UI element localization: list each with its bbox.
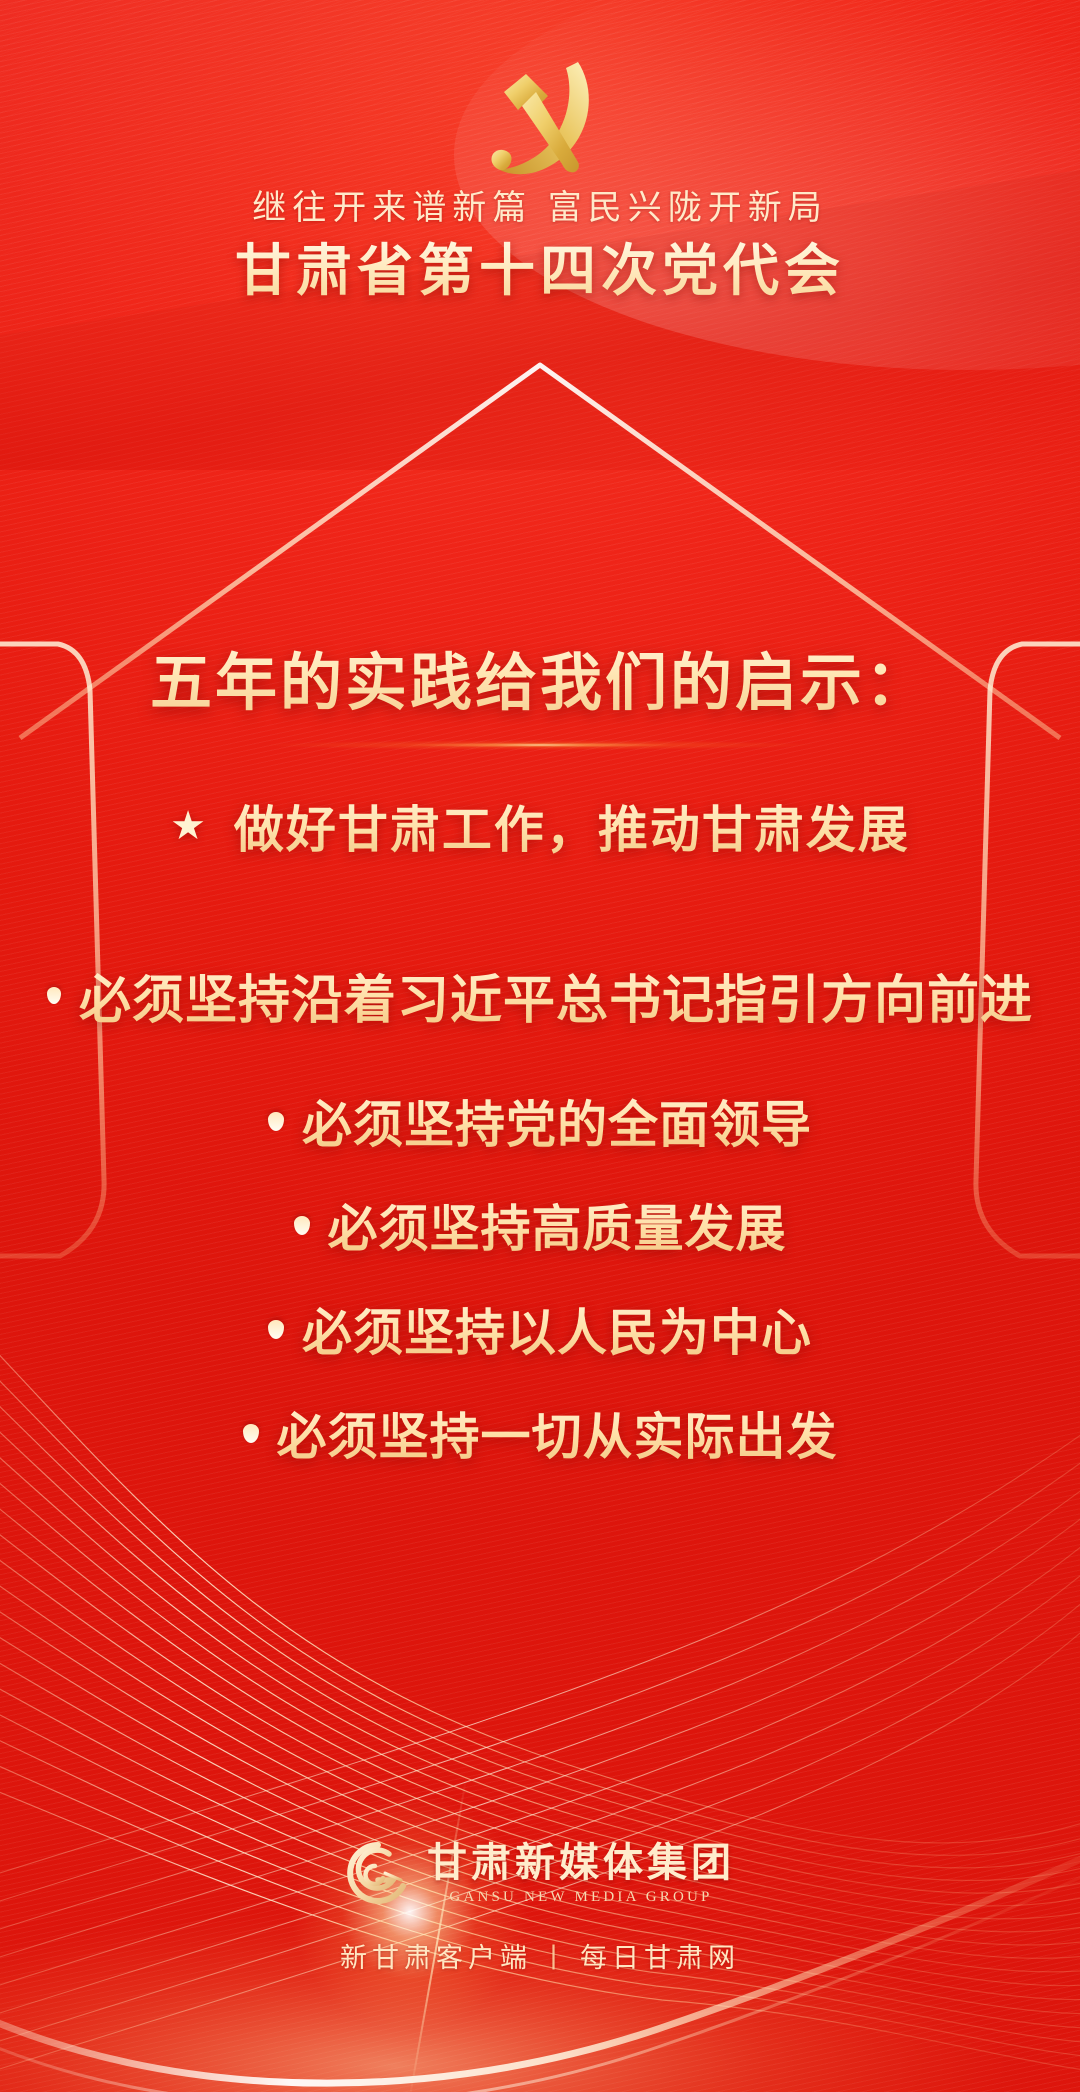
teardrop-bullet-icon	[294, 1216, 310, 1235]
header-title: 甘肃省第十四次党代会	[0, 239, 1080, 303]
poster-root: 继往开来谱新篇 富民兴陇开新局 甘肃省第十四次党代会 五年的实践给我们的启示： …	[0, 0, 1080, 2092]
list-item: 必须坚持党的全面领导	[0, 1085, 1080, 1157]
gansu-new-media-logo-icon	[345, 1840, 411, 1906]
outlet-site-label: 每日甘肃网	[580, 1936, 740, 1975]
teardrop-bullet-icon	[47, 987, 61, 1004]
star-highlight-row: ★ 做好甘肃工作，推动甘肃发展	[0, 790, 1080, 862]
star-item-text: 做好甘肃工作，推动甘肃发展	[234, 790, 910, 862]
teardrop-bullet-icon	[243, 1424, 259, 1443]
outlet-separator: |	[550, 1940, 562, 1971]
list-item-label: 必须坚持沿着习近平总书记指引方向前进	[79, 958, 1033, 1033]
brand-row: 甘肃新媒体集团 GANSU NEW MEDIA GROUP	[0, 1840, 1080, 1906]
list-item-label: 必须坚持高质量发展	[328, 1189, 787, 1261]
main-headline: 五年的实践给我们的启示：	[0, 632, 1080, 722]
teardrop-bullet-icon	[268, 1320, 284, 1339]
poster-content: 继往开来谱新篇 富民兴陇开新局 甘肃省第十四次党代会 五年的实践给我们的启示： …	[0, 0, 1080, 2092]
header-block: 继往开来谱新篇 富民兴陇开新局 甘肃省第十四次党代会	[0, 188, 1080, 303]
list-item: 必须坚持沿着习近平总书记指引方向前进	[0, 958, 1080, 1033]
headline-glow-divider	[260, 740, 820, 750]
list-item-label: 必须坚持以人民为中心	[302, 1293, 812, 1365]
outlet-app-label: 新甘肃客户端	[340, 1936, 532, 1975]
list-item: 必须坚持一切从实际出发	[0, 1397, 1080, 1469]
principles-list: 必须坚持沿着习近平总书记指引方向前进 必须坚持党的全面领导 必须坚持高质量发展 …	[0, 958, 1080, 1499]
brand-text-group: 甘肃新媒体集团 GANSU NEW MEDIA GROUP	[427, 1841, 735, 1906]
brand-name-cn: 甘肃新媒体集团	[427, 1841, 735, 1885]
teardrop-bullet-icon	[268, 1112, 284, 1131]
list-item: 必须坚持高质量发展	[0, 1189, 1080, 1261]
hammer-and-sickle-icon	[460, 52, 620, 190]
star-icon: ★	[170, 806, 206, 846]
list-item-label: 必须坚持党的全面领导	[302, 1085, 812, 1157]
outlets-row: 新甘肃客户端 | 每日甘肃网	[0, 1936, 1080, 1975]
brand-name-en: GANSU NEW MEDIA GROUP	[427, 1889, 735, 1906]
footer-block: 甘肃新媒体集团 GANSU NEW MEDIA GROUP 新甘肃客户端 | 每…	[0, 1840, 1080, 1975]
header-subtitle: 继往开来谱新篇 富民兴陇开新局	[0, 188, 1080, 229]
list-item: 必须坚持以人民为中心	[0, 1293, 1080, 1365]
list-item-label: 必须坚持一切从实际出发	[277, 1397, 838, 1469]
